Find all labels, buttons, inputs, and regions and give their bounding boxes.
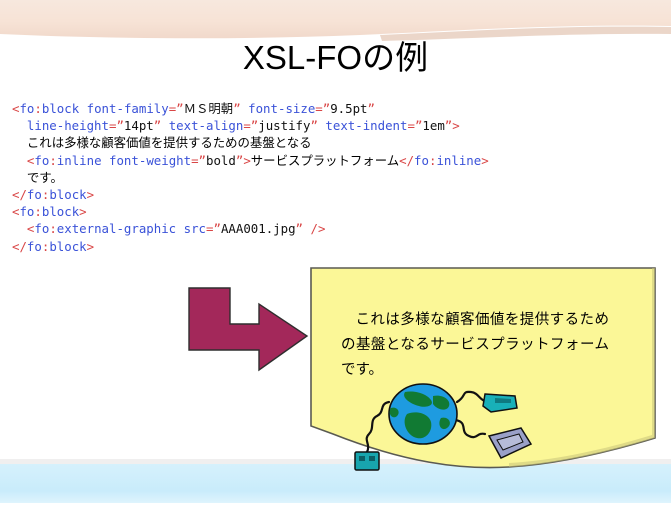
page-title: XSL-FOの例 [0, 38, 671, 78]
code-token: ” [176, 101, 183, 116]
code-token: ＭＳ明朝 [184, 101, 234, 116]
code-token [12, 118, 27, 133]
code-token: ” [199, 153, 206, 168]
code-token: fo [19, 101, 34, 116]
code-token: > [481, 153, 488, 168]
code-token: fo [27, 239, 42, 254]
code-token: > [243, 153, 250, 168]
code-token: > [79, 204, 86, 219]
code-token: これは多様な顧客価値を提供するための基盤となる [27, 135, 312, 150]
code-token [161, 118, 168, 133]
code-line: <fo:external-graphic src=”AAA001.jpg” /> [12, 220, 652, 237]
code-token [102, 153, 109, 168]
code-token: fo [414, 153, 429, 168]
code-token: inline [57, 153, 102, 168]
code-line: <fo:block> [12, 203, 652, 220]
code-token: line-height [27, 118, 109, 133]
globe-network-illustration [345, 382, 535, 487]
code-token [176, 221, 183, 236]
callout-text: これは多様な顧客価値を提供するための基盤となるサービスプラットフォームです。 [341, 308, 609, 383]
code-token: fo [34, 153, 49, 168]
code-token: = [407, 118, 414, 133]
code-token: </ [399, 153, 414, 168]
code-token: です。 [27, 170, 63, 185]
code-token: block [42, 204, 79, 219]
bent-arrow-right-icon [186, 286, 310, 372]
code-token: </ [12, 239, 27, 254]
code-token: ” [296, 221, 303, 236]
code-token: = [315, 101, 322, 116]
code-token: external-graphic [57, 221, 176, 236]
code-token: block [49, 239, 86, 254]
code-token: src [184, 221, 206, 236]
code-token: 9.5pt [330, 101, 367, 116]
decorative-band-top [0, 0, 671, 42]
xsl-fo-code-block: <fo:block font-family=”ＭＳ明朝” font-size=”… [12, 100, 652, 255]
code-token: : [49, 221, 56, 236]
code-line: <fo:inline font-weight=”bold”>サービスプラットフォ… [12, 152, 652, 169]
code-token: > [452, 118, 459, 133]
code-token: text-indent [325, 118, 407, 133]
code-token: block [49, 187, 86, 202]
code-token: 14pt [124, 118, 154, 133]
code-token: bold [206, 153, 236, 168]
code-token: font-family [87, 101, 169, 116]
code-token: 1em [422, 118, 444, 133]
code-token: ” [310, 118, 317, 133]
code-token: : [34, 204, 41, 219]
code-token: ” [233, 101, 240, 116]
code-token: ” [116, 118, 123, 133]
code-line: </fo:block> [12, 186, 652, 203]
code-token: > [87, 239, 94, 254]
code-token [12, 135, 27, 150]
code-token: : [34, 101, 41, 116]
code-token: inline [436, 153, 481, 168]
code-token [12, 170, 27, 185]
code-token: fo [19, 204, 34, 219]
code-token: fo [27, 187, 42, 202]
code-token: font-weight [109, 153, 191, 168]
code-token: サービスプラットフォーム [251, 153, 399, 168]
code-line: <fo:block font-family=”ＭＳ明朝” font-size=”… [12, 100, 652, 117]
code-token: text-align [169, 118, 244, 133]
code-token: > [87, 187, 94, 202]
code-token: ” [213, 221, 220, 236]
code-token: font-size [248, 101, 315, 116]
code-token: = [243, 118, 250, 133]
code-line: これは多様な顧客価値を提供するための基盤となる [12, 134, 652, 151]
code-token: AAA001.jpg [221, 221, 296, 236]
code-token: </ [12, 187, 27, 202]
code-token [12, 221, 27, 236]
code-line: </fo:block> [12, 238, 652, 255]
code-token: : [49, 153, 56, 168]
code-token: block [42, 101, 79, 116]
code-token: /> [310, 221, 325, 236]
code-token [12, 153, 27, 168]
code-token: fo [34, 221, 49, 236]
code-line: です。 [12, 169, 652, 186]
code-token: ” [368, 101, 375, 116]
code-token: justify [258, 118, 310, 133]
code-token [79, 101, 86, 116]
code-line: line-height=”14pt” text-align=”justify” … [12, 117, 652, 134]
code-token: = [191, 153, 198, 168]
